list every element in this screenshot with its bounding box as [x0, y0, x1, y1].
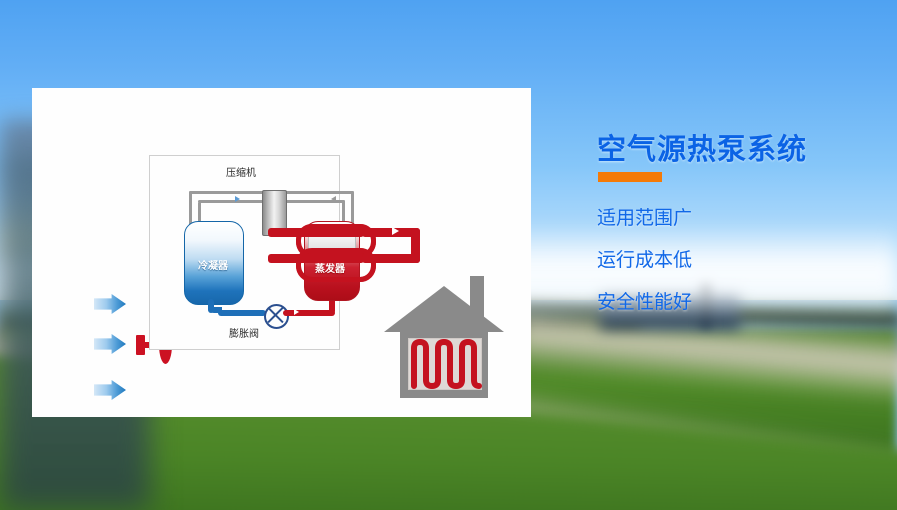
- house-illustration: [384, 276, 504, 398]
- list-item: 安全性能好: [597, 287, 692, 314]
- page-title: 空气源热泵系统: [597, 126, 807, 168]
- slide-canvas: 压缩机 冷凝器 膨胀阀 蒸发器: [0, 0, 897, 510]
- flow-direction-icon: [331, 196, 336, 202]
- expansion-valve-label: 膨胀阀: [229, 330, 259, 340]
- flow-direction-icon: [235, 196, 240, 202]
- floor-heating-coil-icon: [384, 276, 504, 398]
- compressor-label: 压缩机: [226, 169, 256, 179]
- flow-direction-icon: [392, 227, 399, 235]
- title-underline-rule: [598, 172, 662, 182]
- diagram-panel: 压缩机 冷凝器 膨胀阀 蒸发器: [32, 88, 531, 417]
- pipe-red-return: [268, 254, 364, 263]
- pipe-blue-to-valve: [218, 310, 266, 316]
- pipe-gray-outer-right: [351, 191, 354, 225]
- pipe-red-from-valve: [283, 310, 335, 316]
- pipe-red-supply-top: [268, 228, 364, 237]
- flow-direction-icon: [294, 309, 299, 315]
- list-item: 适用范围广: [597, 203, 692, 230]
- expansion-valve-icon: [264, 304, 289, 329]
- pipe-gray-to-compressor: [198, 200, 264, 203]
- pipe-red-house-bend: [411, 228, 420, 263]
- feature-list: 适用范围广 运行成本低 安全性能好: [597, 203, 692, 329]
- condenser-label: 冷凝器: [192, 257, 234, 272]
- list-item: 运行成本低: [597, 245, 692, 272]
- pipe-gray-outer-left: [189, 191, 192, 225]
